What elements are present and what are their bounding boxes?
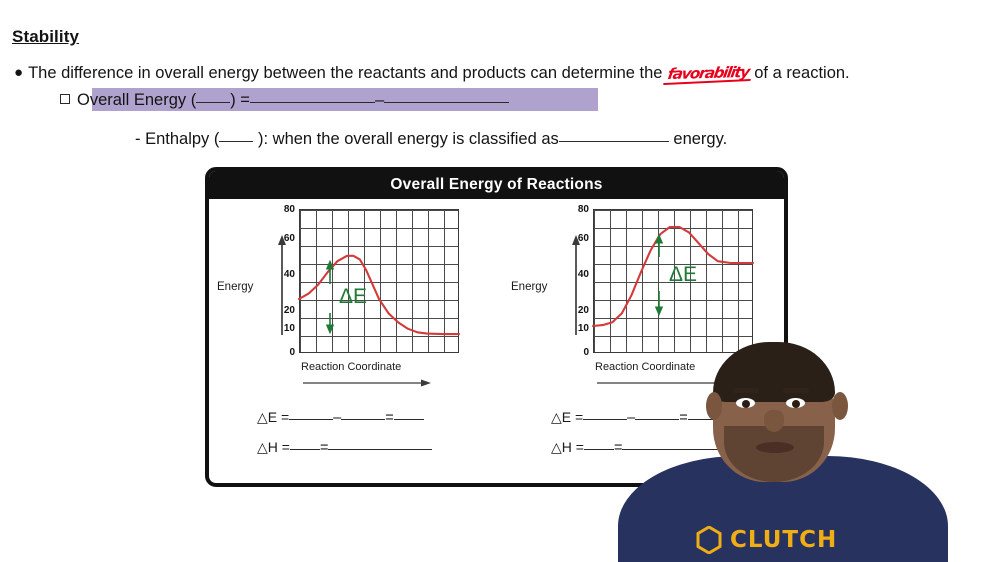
presenter-video-overlay: CLUTCH [600,330,1000,562]
y-tick-40-right: 40 [573,269,589,280]
y-tick-40-left: 40 [279,269,295,280]
x-axis-arrow-left [303,379,431,387]
bullet-item-2: Overall Energy () =– [60,91,509,110]
bullet-1-text-after: of a reaction. [754,64,849,82]
y-axis-label-right: Energy [511,281,547,293]
presenter-nose [764,410,784,432]
bullet-item-1: ●The difference in overall energy betwee… [14,64,850,83]
delta-e-label-right: ΔE [669,263,697,286]
y-tick-0-right: 0 [573,347,589,358]
presenter-ear-left [706,392,722,420]
blank-result-left [394,419,424,420]
bullet-item-3: - Enthalpy ( ): when the overall energy … [135,130,727,149]
y-axis-label-left: Energy [217,281,253,293]
bullet-2-close-paren: ) = [230,91,250,109]
y-tick-0-left: 0 [279,347,295,358]
figure-title: Overall Energy of Reactions [390,176,602,194]
blank-line-products [250,102,375,103]
delta-e-arrow-right [656,235,663,315]
y-axis-ticks-right: 80 60 40 20 10 0 [567,203,589,353]
presenter-eyebrow-right [783,388,809,393]
presenter-eyebrow-left [733,388,759,393]
equation-delta-e-left-label: △E = [257,409,289,425]
blank-line-enthalpy-symbol [219,141,253,142]
bullet-dot-icon: ● [14,64,23,81]
y-tick-80-right: 80 [573,204,589,215]
clutch-logo: CLUTCH [696,526,837,554]
bullet-square-icon [60,94,70,104]
y-tick-80-left: 80 [279,204,295,215]
equation-delta-e-right-label: △E = [551,409,583,425]
bullet-2-label: Overall Energy ( [77,91,196,109]
presenter-pupil-right [792,400,800,408]
presenter-ear-right [832,392,848,420]
equation-minus-left: – [333,410,341,426]
equation-delta-h-right-label: △H = [551,439,584,455]
blank-delta-h-classification-left [328,449,432,450]
presenter-pupil-left [742,400,750,408]
lecture-notes-area: Stability ●The difference in overall ene… [0,0,1000,165]
y-tick-20-left: 20 [279,305,295,316]
bullet-3-label: Enthalpy ( [145,130,219,148]
blank-line-energy-type [559,141,669,142]
bullet-3-tail: energy. [673,130,727,148]
equation-equals-left: = [385,410,393,426]
y-tick-60-right: 60 [573,233,589,244]
bullet-1-text-before: The difference in overall energy between… [28,64,662,82]
blank-line-reactants [384,102,509,103]
bullet-3-dash: - [135,130,141,148]
x-axis-label-left: Reaction Coordinate [301,361,401,373]
energy-curve-left: ΔE [299,209,459,353]
blank-delta-h-value-left [290,449,320,450]
y-tick-20-right: 20 [573,305,589,316]
blank-products-left [289,419,333,420]
equation-delta-h-left-label: △H = [257,439,290,455]
figure-title-bar: Overall Energy of Reactions [209,171,784,199]
presenter-hair [713,342,835,402]
equation-delta-e-left: △E =–= [257,409,424,426]
y-tick-10-right: 10 [573,323,589,334]
bullet-3-mid: ): when the overall energy is classified… [258,130,559,148]
blank-line-overall-energy-symbol [196,102,230,103]
delta-e-label-left: ΔE [339,285,367,308]
bullet-2-minus: – [375,91,384,109]
equation-delta-h-equals-left: = [320,440,328,456]
handwritten-annotation-favorability: favorability [665,63,751,83]
equation-delta-h-left: △H == [257,439,432,456]
presenter-mouth [756,442,794,453]
blank-reactants-left [341,419,385,420]
page-title: Stability [12,27,79,47]
y-axis-ticks-left: 80 60 40 20 10 0 [273,203,295,353]
clutch-wordmark: CLUTCH [730,527,837,553]
y-tick-10-left: 10 [279,323,295,334]
y-tick-60-left: 60 [279,233,295,244]
hexagon-icon [696,526,722,554]
